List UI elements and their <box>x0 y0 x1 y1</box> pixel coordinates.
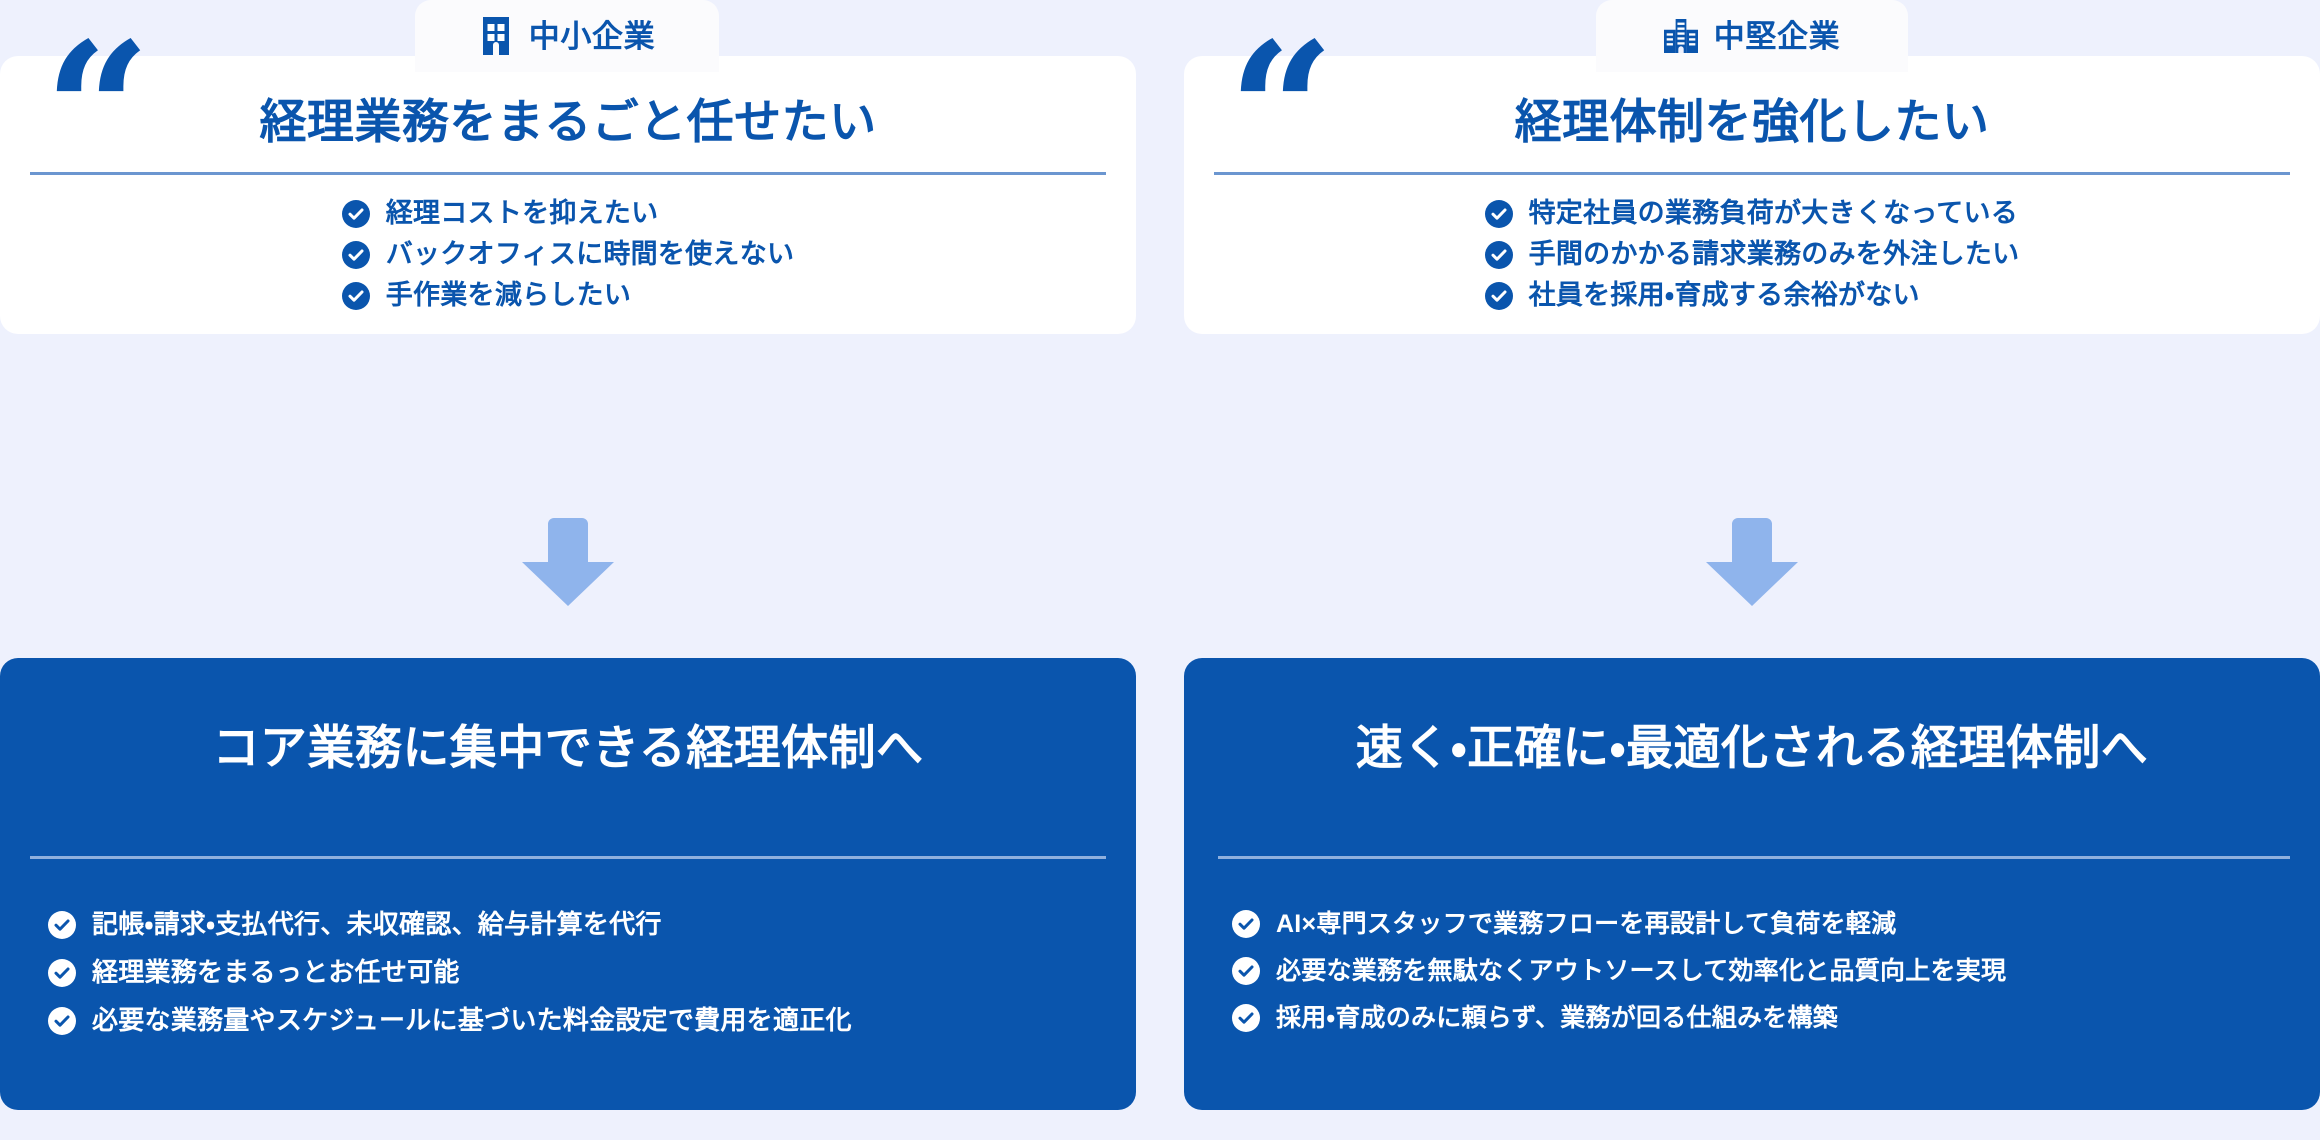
problem-title: 経理業務をまるごと任せたい <box>0 94 1136 150</box>
list-item: 社員を採用・育成する余裕がない <box>1485 280 2020 311</box>
list-item-label: 社員を採用・育成する余裕がない <box>1529 280 1920 311</box>
flow-arrow-small-business <box>0 518 1136 606</box>
list-item-label: AI×専門スタッフで業務フローを再設計して負荷を軽減 <box>1276 910 1896 939</box>
problem-title: 経理体制を強化したい <box>1184 94 2320 150</box>
check-circle-icon <box>48 911 76 939</box>
list-item: 必要な業務量やスケジュールに基づいた料金設定で費用を適正化 <box>48 1006 852 1036</box>
solution-card-medium-business: 速く・正確に・最適化される経理体制へ AI×専門スタッフで業務フローを再設計して… <box>1184 658 2320 1110</box>
solution-title: コア業務に集中できる経理体制へ <box>0 720 1136 776</box>
check-circle-icon <box>342 241 370 269</box>
solution-bullet-list: 記帳・請求・支払代行、未収確認、給与計算を代行 経理業務をまるっとお任せ可能 必… <box>48 910 852 1036</box>
segment-tab-label: 中堅企業 <box>1714 21 1840 52</box>
list-item-label: バックオフィスに時間を使えない <box>386 239 795 270</box>
problem-card-small-business: “ 経理業務をまるごと任せたい 経理コストを抑えたい <box>0 56 1136 334</box>
check-circle-icon <box>1232 910 1260 938</box>
list-item: 必要な業務を無駄なくアウトソースして効率化と品質向上を実現 <box>1232 957 2006 986</box>
segment-tab-label: 中小企業 <box>529 21 655 52</box>
check-circle-icon <box>1232 1004 1260 1032</box>
column-small-business: 中小企業 “ 経理業務をまるごと任せたい 経理コストを抑えたい <box>0 0 1136 1140</box>
list-item: 経理コストを抑えたい <box>342 198 795 229</box>
segment-tab-small-business[interactable]: 中小企業 <box>415 0 719 72</box>
comparison-board: 中小企業 “ 経理業務をまるごと任せたい 経理コストを抑えたい <box>0 0 2320 1140</box>
column-medium-business: 中堅企業 “ 経理体制を強化したい 特定社員の業務負荷が大きくなっている <box>1184 0 2320 1140</box>
problem-bullet-list: 特定社員の業務負荷が大きくなっている 手間のかかる請求業務のみを外注したい <box>1184 198 2320 311</box>
list-item: AI×専門スタッフで業務フローを再設計して負荷を軽減 <box>1232 910 2006 939</box>
check-circle-icon <box>1485 282 1513 310</box>
solution-title: 速く・正確に・最適化される経理体制へ <box>1184 720 2320 776</box>
solution-card-small-business: コア業務に集中できる経理体制へ 記帳・請求・支払代行、未収確認、給与計算を代行 … <box>0 658 1136 1110</box>
list-item-label: 経理コストを抑えたい <box>386 198 659 229</box>
list-item: 手作業を減らしたい <box>342 280 795 311</box>
check-circle-icon <box>342 282 370 310</box>
building-medium-icon <box>1664 17 1698 55</box>
check-circle-icon <box>48 959 76 987</box>
list-item-label: 手作業を減らしたい <box>386 280 631 311</box>
list-item-label: 手間のかかる請求業務のみを外注したい <box>1529 239 2020 270</box>
check-circle-icon <box>48 1007 76 1035</box>
list-item-label: 記帳・請求・支払代行、未収確認、給与計算を代行 <box>92 910 662 940</box>
problem-bullet-list: 経理コストを抑えたい バックオフィスに時間を使えない <box>0 198 1136 311</box>
list-item: 記帳・請求・支払代行、未収確認、給与計算を代行 <box>48 910 852 940</box>
solution-bullet-list: AI×専門スタッフで業務フローを再設計して負荷を軽減 必要な業務を無駄なくアウト… <box>1232 910 2006 1032</box>
check-circle-icon <box>342 200 370 228</box>
list-item: 手間のかかる請求業務のみを外注したい <box>1485 239 2020 270</box>
arrow-down-icon <box>1706 518 1798 606</box>
list-item: 採用・育成のみに頼らず、業務が回る仕組みを構築 <box>1232 1004 2006 1033</box>
list-item-label: 必要な業務を無駄なくアウトソースして効率化と品質向上を実現 <box>1276 957 2006 986</box>
check-circle-icon <box>1485 241 1513 269</box>
list-item: 経理業務をまるっとお任せ可能 <box>48 958 852 988</box>
problem-divider <box>1214 172 2290 175</box>
list-item: バックオフィスに時間を使えない <box>342 239 795 270</box>
check-circle-icon <box>1232 957 1260 985</box>
building-small-icon <box>479 17 513 55</box>
list-item-label: 特定社員の業務負荷が大きくなっている <box>1529 198 2019 229</box>
problem-card-medium-business: “ 経理体制を強化したい 特定社員の業務負荷が大きくなっている <box>1184 56 2320 334</box>
arrow-down-icon <box>522 518 614 606</box>
segment-tab-medium-business[interactable]: 中堅企業 <box>1596 0 1908 72</box>
check-circle-icon <box>1485 200 1513 228</box>
list-item-label: 採用・育成のみに頼らず、業務が回る仕組みを構築 <box>1276 1004 1838 1033</box>
list-item-label: 必要な業務量やスケジュールに基づいた料金設定で費用を適正化 <box>92 1006 852 1036</box>
list-item-label: 経理業務をまるっとお任せ可能 <box>92 958 460 988</box>
flow-arrow-medium-business <box>1184 518 2320 606</box>
list-item: 特定社員の業務負荷が大きくなっている <box>1485 198 2020 229</box>
solution-divider <box>30 856 1106 859</box>
problem-divider <box>30 172 1106 175</box>
solution-divider <box>1218 856 2290 859</box>
